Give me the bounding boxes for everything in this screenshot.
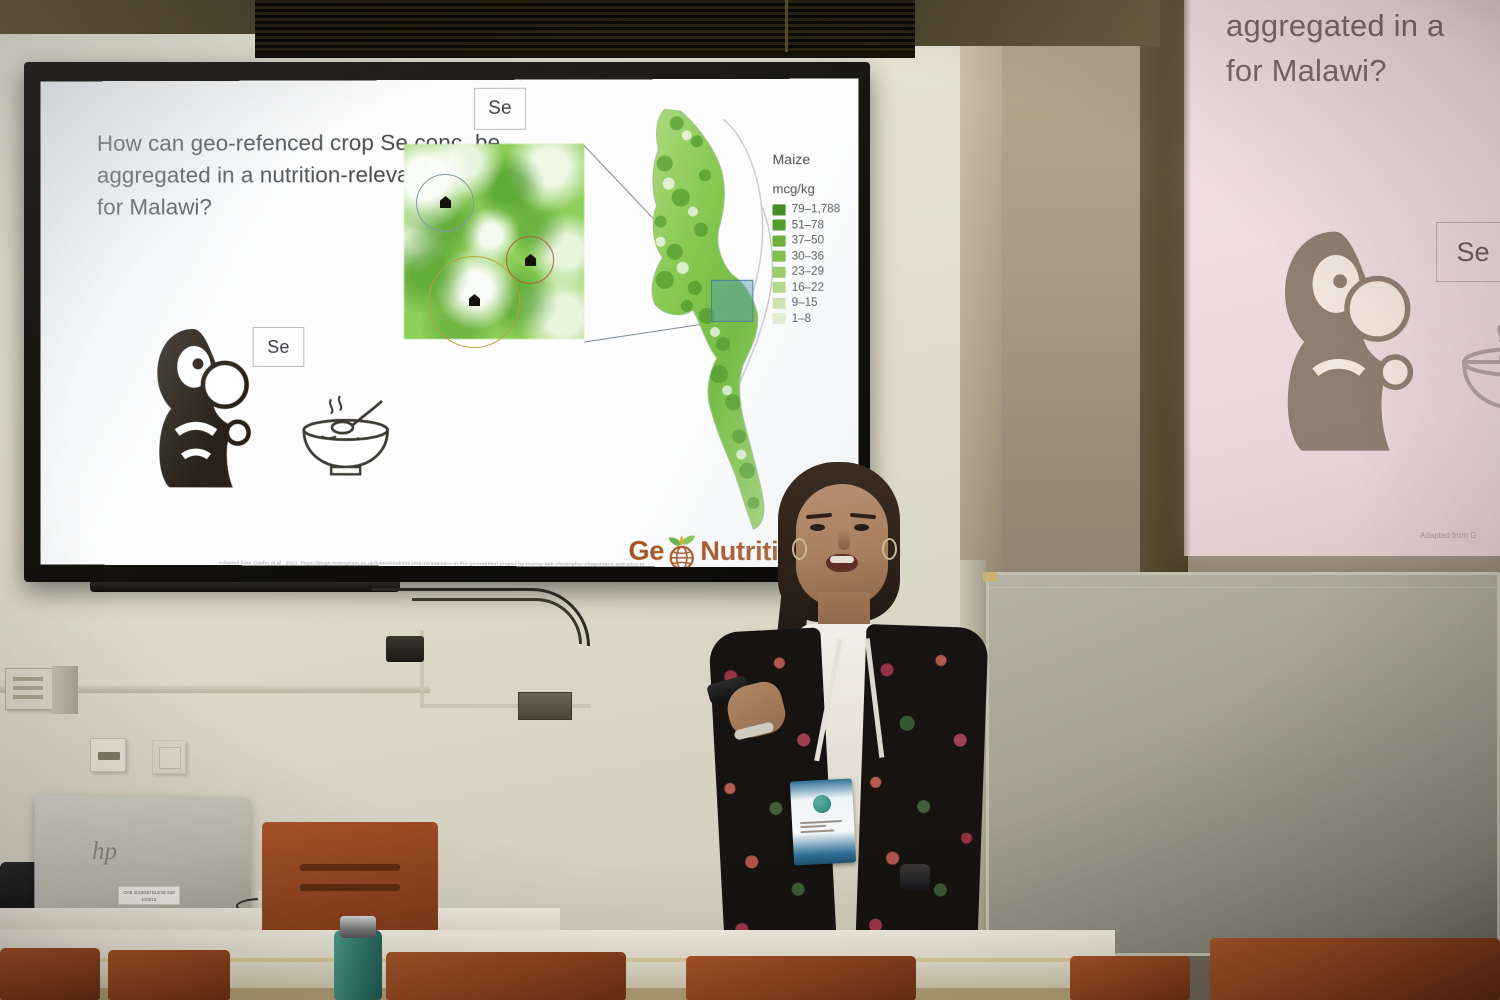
chair-front-4[interactable] <box>686 956 916 1000</box>
legend-swatch <box>773 204 786 215</box>
map-highlight-box <box>711 280 753 322</box>
chair-front-2[interactable] <box>108 950 230 1000</box>
mother-child-icon <box>1274 222 1460 452</box>
eye-left <box>810 524 825 531</box>
wall-av-port[interactable] <box>518 692 572 720</box>
dark-pillar <box>1140 0 1188 600</box>
wall-projection: aggregated in a for Malawi? Se Adapted f… <box>1184 0 1500 556</box>
photo-scene: aggregated in a for Malawi? Se Adapted f… <box>0 0 1500 1000</box>
chair-front-1[interactable] <box>0 948 100 1000</box>
legend-row: 30–36 <box>773 250 858 262</box>
badge-logo-icon <box>813 795 832 814</box>
legend-swatch <box>773 251 786 262</box>
whiteboard[interactable] <box>986 572 1500 956</box>
projection-credit: Adapted from G <box>1420 531 1476 540</box>
power-outlet[interactable] <box>5 668 53 710</box>
eye-right <box>854 524 869 531</box>
legend-label: 16–22 <box>792 281 824 293</box>
legend-swatch <box>773 313 786 324</box>
light-switch[interactable] <box>90 738 126 772</box>
se-label-box-mother: Se <box>253 327 305 367</box>
legend-unit: mcg/kg <box>773 181 858 196</box>
display-mount <box>90 582 400 592</box>
badge-text-lines <box>800 817 847 836</box>
food-bowl-icon <box>1446 300 1500 430</box>
legend-row: 37–50 <box>773 234 858 246</box>
legend-row: 23–29 <box>773 266 858 278</box>
presenter <box>700 462 1000 1000</box>
earring-left <box>792 538 807 560</box>
ceiling-vent <box>255 0 915 58</box>
legend-title: Maize <box>773 151 858 167</box>
teeth <box>830 556 854 563</box>
legend-label: 51–78 <box>792 219 824 231</box>
chair-slot-2 <box>300 884 400 891</box>
hp-logo: hp <box>92 838 122 866</box>
bottle-cap[interactable] <box>340 916 376 938</box>
legend-label: 1–8 <box>792 312 811 324</box>
legend-row: 79–1,788 <box>773 203 858 215</box>
projection-edge-shadow <box>1184 0 1191 556</box>
map-legend: Maize mcg/kg 79–1,78851–7837–5030–3623–2… <box>773 151 858 328</box>
water-bottle[interactable] <box>334 930 382 1000</box>
projection-se-box: Se <box>1436 222 1500 282</box>
earring-right <box>882 538 897 560</box>
laptop-asset-tag: CHE 2019030 ELEVE 839 134018 <box>118 886 180 905</box>
nose <box>838 530 850 550</box>
conference-badge <box>790 778 856 865</box>
legend-swatch <box>773 219 786 230</box>
legend-row: 51–78 <box>773 219 858 231</box>
ceiling-left <box>0 0 260 34</box>
cable-clamp <box>386 636 424 662</box>
chair-front-3[interactable] <box>386 952 626 1000</box>
legend-label: 79–1,788 <box>792 203 840 215</box>
chair-front-5[interactable] <box>1210 938 1500 1000</box>
legend-rows: 79–1,78851–7837–5030–3623–2916–229–151–8 <box>773 203 858 324</box>
legend-label: 37–50 <box>792 235 824 247</box>
outlet-side-box[interactable] <box>52 666 78 714</box>
legend-label: 23–29 <box>792 266 824 278</box>
legend-swatch <box>773 235 786 246</box>
se-label-box-inset: Se <box>474 88 526 130</box>
projection-title-line-2: for Malawi? <box>1226 49 1500 94</box>
chair-front-6[interactable] <box>1070 956 1190 1000</box>
house-icon-2 <box>525 254 536 266</box>
wall-socket-plate[interactable] <box>152 740 186 774</box>
display-cable-secondary <box>412 598 582 644</box>
legend-swatch <box>773 297 786 308</box>
inset-map-panel <box>404 144 584 339</box>
legend-label: 30–36 <box>792 250 824 262</box>
projection-title: aggregated in a for Malawi? <box>1226 4 1500 94</box>
legend-swatch <box>773 282 786 293</box>
chair-slot-1 <box>300 864 400 871</box>
vent-divider <box>785 0 788 52</box>
ceiling-right <box>900 0 1160 46</box>
legend-label: 9–15 <box>792 297 818 309</box>
legend-row: 9–15 <box>773 297 858 309</box>
wristwatch <box>900 864 930 890</box>
house-icon-1 <box>440 196 451 208</box>
projection-title-line-1: aggregated in a <box>1226 4 1500 49</box>
legend-row: 1–8 <box>773 312 858 324</box>
legend-swatch <box>773 266 786 277</box>
food-bowl-icon <box>288 380 403 485</box>
legend-row: 16–22 <box>773 281 858 293</box>
house-icon-3 <box>469 294 480 306</box>
